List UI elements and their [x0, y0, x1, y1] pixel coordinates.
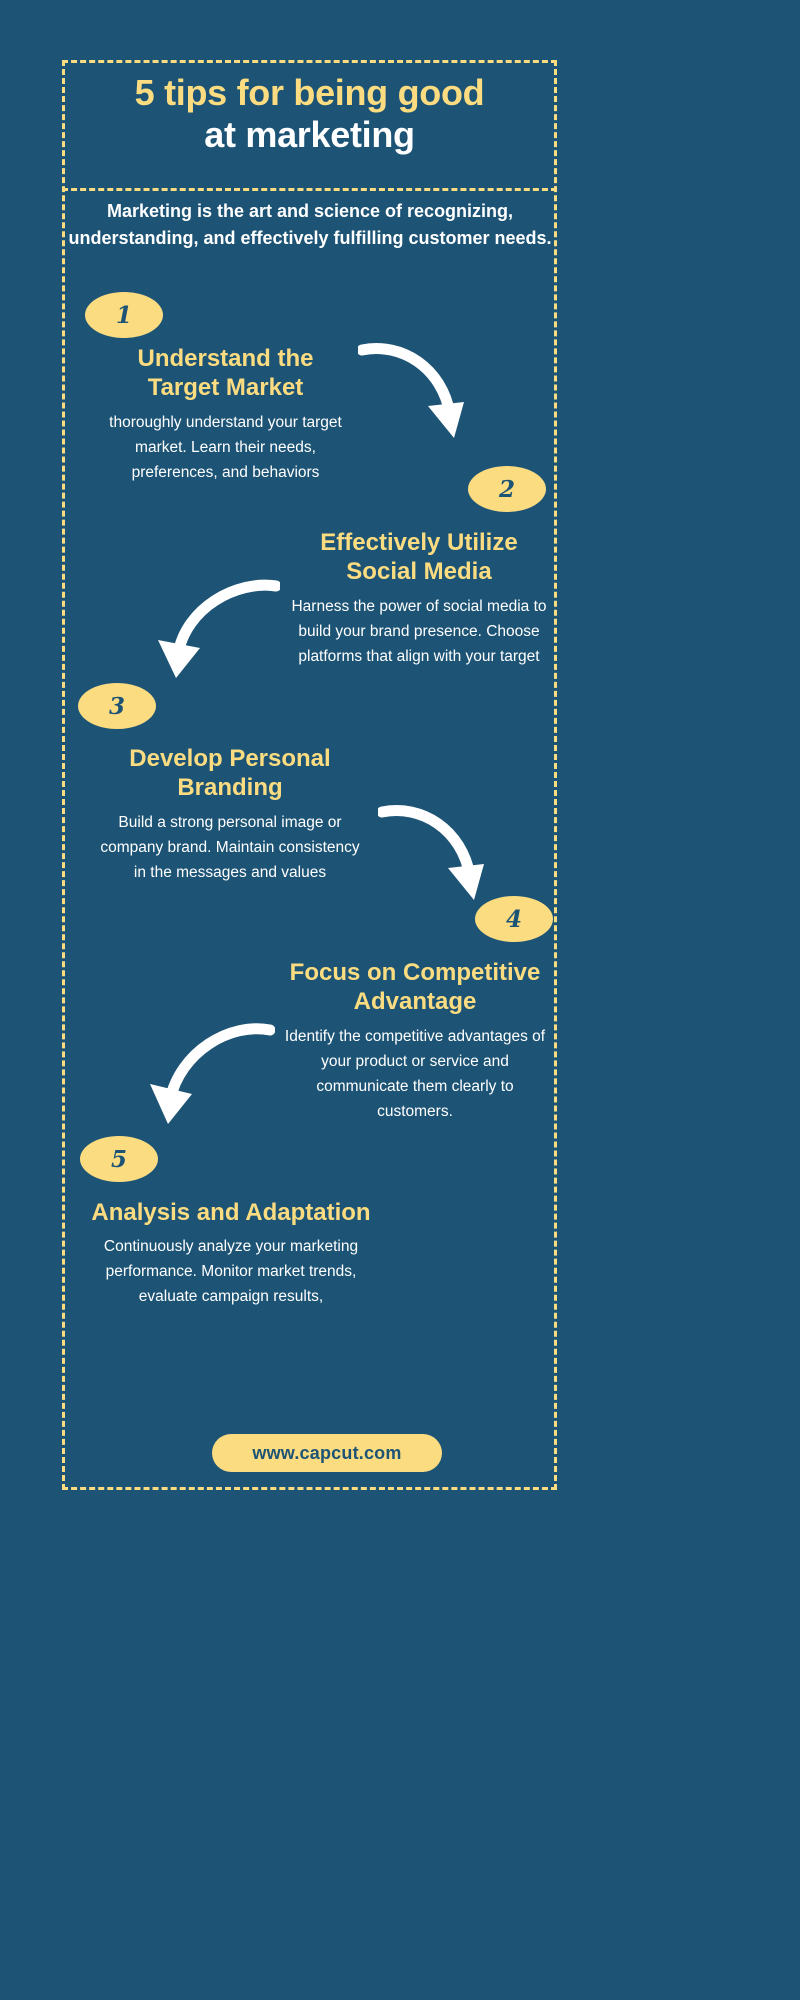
- step-badge-2: 2: [468, 466, 546, 516]
- title-line-2: at marketing: [62, 114, 557, 156]
- section-2: Effectively Utilize Social Media Harness…: [288, 528, 550, 669]
- curved-arrow-4-to-5: [140, 1020, 275, 1135]
- infographic-poster: 5 tips for being good at marketing Marke…: [0, 0, 800, 2000]
- section-3-heading: Develop Personal Branding: [95, 744, 365, 803]
- step-number-2: 2: [468, 466, 546, 512]
- section-1: Understand the Target Market thoroughly …: [103, 344, 348, 485]
- step-number-1: 1: [85, 292, 163, 338]
- section-2-body: Harness the power of social media to bui…: [288, 594, 550, 669]
- section-1-heading: Understand the Target Market: [103, 344, 348, 403]
- title-divider-dashed-line: [62, 188, 557, 191]
- step-number-4: 4: [475, 896, 553, 942]
- section-4-heading: Focus on Competitive Advantage: [280, 958, 550, 1017]
- section-5: Analysis and Adaptation Continuously ana…: [76, 1198, 386, 1310]
- title-line-1: 5 tips for being good: [62, 72, 557, 114]
- section-2-heading: Effectively Utilize Social Media: [288, 528, 550, 587]
- step-number-5: 5: [80, 1136, 158, 1182]
- step-badge-5: 5: [80, 1136, 158, 1186]
- step-number-3: 3: [78, 683, 156, 729]
- website-url-label: www.capcut.com: [252, 1443, 401, 1464]
- section-1-body: thoroughly understand your target market…: [103, 410, 348, 485]
- curved-arrow-2-to-3: [150, 578, 280, 688]
- step-badge-4: 4: [475, 896, 553, 946]
- curved-arrow-1-to-2: [358, 336, 478, 454]
- page-title: 5 tips for being good at marketing: [62, 72, 557, 157]
- section-4-body: Identify the competitive advantages of y…: [280, 1024, 550, 1124]
- section-5-body: Continuously analyze your marketing perf…: [76, 1234, 386, 1309]
- section-5-heading: Analysis and Adaptation: [76, 1198, 386, 1227]
- step-badge-1: 1: [85, 292, 163, 342]
- intro-paragraph: Marketing is the art and science of reco…: [68, 198, 552, 253]
- section-3: Develop Personal Branding Build a strong…: [95, 744, 365, 885]
- section-4: Focus on Competitive Advantage Identify …: [280, 958, 550, 1124]
- section-3-body: Build a strong personal image or company…: [95, 810, 365, 885]
- step-badge-3: 3: [78, 683, 156, 733]
- website-url-button[interactable]: www.capcut.com: [212, 1434, 442, 1472]
